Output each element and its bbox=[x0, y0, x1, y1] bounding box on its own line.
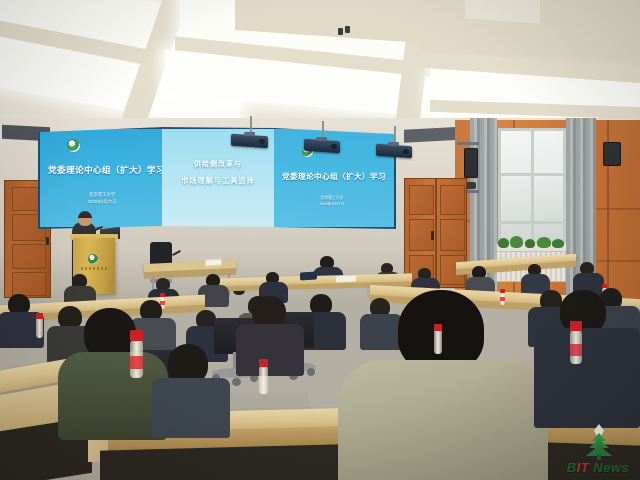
watermark-prefix: B bbox=[567, 460, 577, 475]
door-handle-icon[interactable] bbox=[46, 237, 49, 245]
watermark: BIT News bbox=[560, 424, 636, 476]
water-bottle bbox=[36, 318, 43, 338]
pine-tree-logo-icon bbox=[586, 424, 612, 460]
watermark-suffix: News bbox=[589, 460, 629, 475]
water-bottle bbox=[259, 366, 268, 394]
foreground-audience bbox=[0, 330, 640, 480]
slide-date-right: 2016年4月27日 bbox=[304, 202, 360, 207]
bottle-cap bbox=[570, 321, 582, 331]
name-card bbox=[205, 259, 222, 267]
podium-emblem-icon bbox=[88, 254, 98, 264]
bottle-cap bbox=[36, 313, 43, 319]
lecture-hall-photo: 党委理论中心组（扩大）学习 北京理工大学 2016年4月27日 供给侧改革与 市… bbox=[0, 0, 640, 480]
bottle-cap bbox=[130, 330, 143, 341]
bottle-cap bbox=[434, 324, 442, 331]
ceiling-projectors bbox=[0, 0, 640, 200]
door-handle-icon[interactable] bbox=[431, 231, 434, 240]
watermark-accent: IT bbox=[577, 460, 590, 475]
presenter-head bbox=[78, 211, 92, 226]
bottle-cap bbox=[259, 359, 268, 367]
water-bottle bbox=[434, 330, 442, 354]
watermark-text: BIT News bbox=[560, 460, 636, 475]
window-plants bbox=[496, 236, 568, 248]
